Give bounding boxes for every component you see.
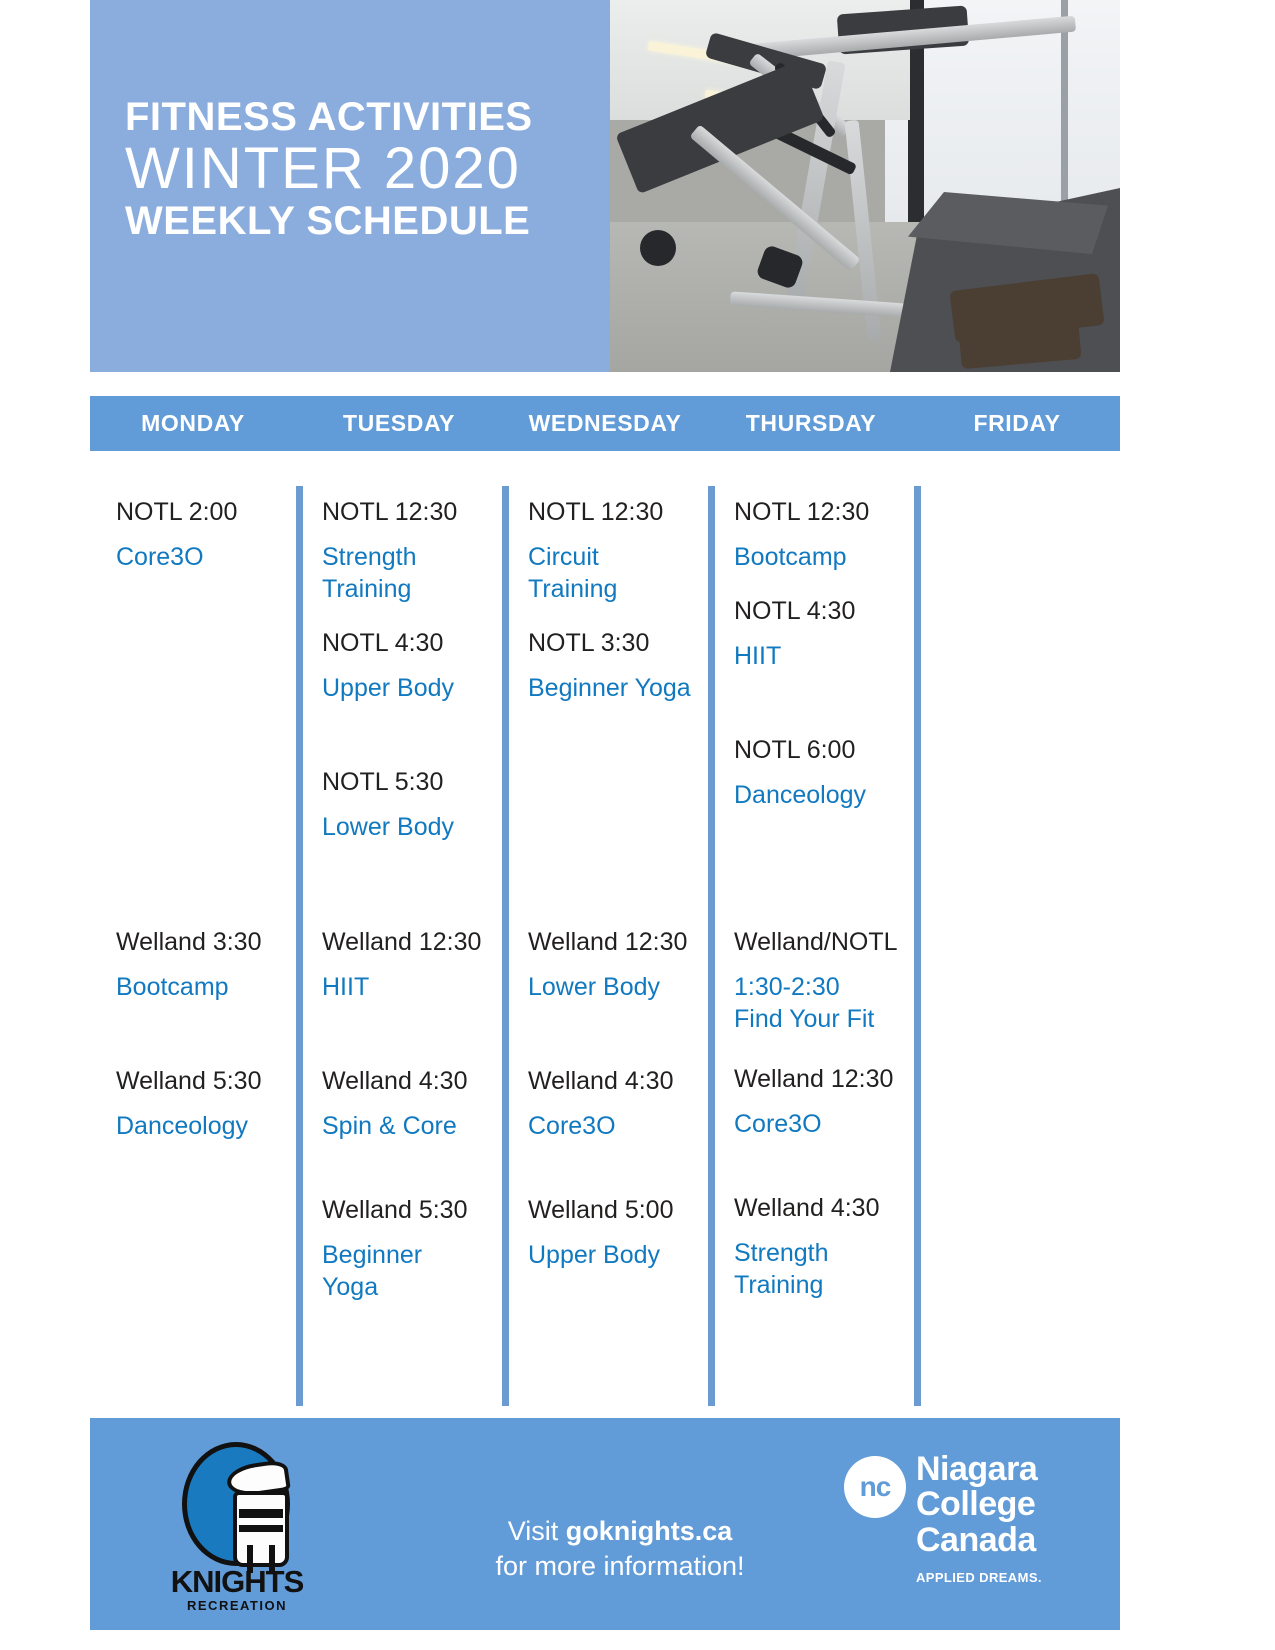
- visit-message: Visit goknights.ca for more information!: [420, 1514, 820, 1584]
- nc-badge-icon: nc: [844, 1456, 906, 1518]
- class-name: Spin & Core: [322, 1110, 494, 1142]
- class-location: Welland 12:30: [528, 926, 700, 958]
- class-slot: Welland 12:30 Core3O: [734, 1063, 906, 1140]
- class-location: Welland/NOTL: [734, 926, 906, 958]
- poster-title-group: FITNESS ACTIVITIES WINTER 2020 WEEKLY SC…: [125, 96, 605, 243]
- class-name: Lower Body: [322, 811, 494, 843]
- class-slot: Welland 4:30 Core3O: [528, 1065, 700, 1142]
- knight-helmet-icon: [182, 1442, 290, 1566]
- class-name: Upper Body: [528, 1239, 700, 1271]
- class-name: Lower Body: [528, 971, 700, 1003]
- class-location: NOTL 12:30: [528, 496, 700, 528]
- welland-block-thursday: Welland/NOTL 1:30-2:30 Find Your Fit Wel…: [734, 926, 906, 1307]
- title-line-weekly-schedule: WEEKLY SCHEDULE: [125, 199, 605, 243]
- class-slot: Welland 4:30 Spin & Core: [322, 1065, 494, 1142]
- class-location: Welland 3:30: [116, 926, 288, 958]
- niagara-college-logo: nc Niagara College Canada APPLIED DREAMS…: [844, 1452, 1074, 1602]
- class-location: Welland 12:30: [734, 1063, 906, 1095]
- knights-recreation-logo: KNIGHTS RECREATION: [162, 1436, 312, 1612]
- class-name: Circuit Training: [528, 541, 700, 605]
- knights-wordmark: KNIGHTS: [162, 1564, 312, 1600]
- class-slot: NOTL 12:30 Bootcamp: [734, 496, 906, 573]
- class-slot: Welland/NOTL 1:30-2:30 Find Your Fit: [734, 926, 906, 1035]
- class-location: NOTL 4:30: [734, 595, 906, 627]
- visit-line-2: for more information!: [420, 1549, 820, 1584]
- column-divider: [502, 486, 509, 1406]
- notl-block-monday: NOTL 2:00 Core3O: [116, 496, 288, 579]
- class-location: Welland 12:30: [322, 926, 494, 958]
- title-line-winter-2020: WINTER 2020: [125, 138, 605, 199]
- class-slot: Welland 5:30 Beginner Yoga: [322, 1194, 494, 1303]
- class-slot: Welland 5:00 Upper Body: [528, 1194, 700, 1271]
- visit-line-1: Visit goknights.ca: [420, 1514, 820, 1549]
- class-name: Beginner Yoga: [322, 1239, 494, 1303]
- welland-block-tuesday: Welland 12:30 HIIT Welland 4:30 Spin & C…: [322, 926, 494, 1309]
- class-slot: Welland 4:30 Strength Training: [734, 1192, 906, 1301]
- class-name: HIIT: [322, 971, 494, 1003]
- class-location: Welland 4:30: [528, 1065, 700, 1097]
- class-name: Bootcamp: [734, 541, 906, 573]
- class-name: Strength Training: [322, 541, 494, 605]
- class-slot: Welland 12:30 Lower Body: [528, 926, 700, 1003]
- class-slot: NOTL 2:00 Core3O: [116, 496, 288, 573]
- class-location: Welland 5:30: [116, 1065, 288, 1097]
- notl-block-wednesday: NOTL 12:30 Circuit Training NOTL 3:30 Be…: [528, 496, 700, 710]
- poster-header: FITNESS ACTIVITIES WINTER 2020 WEEKLY SC…: [90, 0, 1120, 372]
- class-location: Welland 4:30: [734, 1192, 906, 1224]
- class-location: NOTL 12:30: [322, 496, 494, 528]
- class-name: Danceology: [734, 779, 906, 811]
- class-location: NOTL 4:30: [322, 627, 494, 659]
- class-location: NOTL 12:30: [734, 496, 906, 528]
- day-header-tuesday: TUESDAY: [296, 396, 502, 451]
- class-name: 1:30-2:30 Find Your Fit: [734, 971, 906, 1035]
- day-header-monday: MONDAY: [90, 396, 296, 451]
- class-location: NOTL 6:00: [734, 734, 906, 766]
- niagara-college-wordmark: Niagara College Canada: [916, 1452, 1037, 1558]
- class-slot: NOTL 12:30 Strength Training: [322, 496, 494, 605]
- notl-block-thursday: NOTL 12:30 Bootcamp NOTL 4:30 HIIT NOTL …: [734, 496, 906, 817]
- class-name: Core3O: [116, 541, 288, 573]
- day-header-wednesday: WEDNESDAY: [502, 396, 708, 451]
- class-name: HIIT: [734, 640, 906, 672]
- class-name: Upper Body: [322, 672, 494, 704]
- schedule-grid: NOTL 2:00 Core3O Welland 3:30 Bootcamp W…: [90, 486, 1120, 1406]
- schedule-column-friday: [914, 486, 1120, 1406]
- class-name: Strength Training: [734, 1237, 906, 1301]
- schedule-column-wednesday: NOTL 12:30 Circuit Training NOTL 3:30 Be…: [502, 486, 708, 1406]
- class-name: Bootcamp: [116, 971, 288, 1003]
- visit-prefix: Visit: [508, 1516, 566, 1546]
- weight-plate: [640, 230, 676, 266]
- class-name: Danceology: [116, 1110, 288, 1142]
- class-slot: NOTL 6:00 Danceology: [734, 734, 906, 811]
- welland-block-wednesday: Welland 12:30 Lower Body Welland 4:30 Co…: [528, 926, 700, 1277]
- day-header-friday: FRIDAY: [914, 396, 1120, 451]
- class-slot: Welland 3:30 Bootcamp: [116, 926, 288, 1003]
- schedule-column-monday: NOTL 2:00 Core3O Welland 3:30 Bootcamp W…: [90, 486, 296, 1406]
- class-location: Welland 4:30: [322, 1065, 494, 1097]
- schedule-column-tuesday: NOTL 12:30 Strength Training NOTL 4:30 U…: [296, 486, 502, 1406]
- class-name: Core3O: [734, 1108, 906, 1140]
- class-location: NOTL 5:30: [322, 766, 494, 798]
- class-name: Beginner Yoga: [528, 672, 700, 704]
- class-name: Core3O: [528, 1110, 700, 1142]
- class-location: NOTL 2:00: [116, 496, 288, 528]
- day-header-thursday: THURSDAY: [708, 396, 914, 451]
- class-slot: NOTL 12:30 Circuit Training: [528, 496, 700, 605]
- class-location: NOTL 3:30: [528, 627, 700, 659]
- knights-subtitle: RECREATION: [162, 1598, 312, 1613]
- day-header-bar: MONDAY TUESDAY WEDNESDAY THURSDAY FRIDAY: [90, 396, 1120, 451]
- class-slot: Welland 5:30 Danceology: [116, 1065, 288, 1142]
- class-location: Welland 5:00: [528, 1194, 700, 1226]
- title-line-fitness-activities: FITNESS ACTIVITIES: [125, 96, 605, 138]
- welland-block-monday: Welland 3:30 Bootcamp Welland 5:30 Dance…: [116, 926, 288, 1148]
- visit-website: goknights.ca: [566, 1516, 733, 1546]
- class-slot: Welland 12:30 HIIT: [322, 926, 494, 1003]
- applied-dreams-tagline: APPLIED DREAMS.: [916, 1570, 1042, 1585]
- class-slot: NOTL 4:30 Upper Body: [322, 627, 494, 704]
- schedule-column-thursday: NOTL 12:30 Bootcamp NOTL 4:30 HIIT NOTL …: [708, 486, 914, 1406]
- column-divider: [914, 486, 921, 1406]
- helmet-visor: [239, 1509, 283, 1518]
- class-slot: NOTL 5:30 Lower Body: [322, 766, 494, 843]
- class-location: Welland 5:30: [322, 1194, 494, 1226]
- class-slot: NOTL 4:30 HIIT: [734, 595, 906, 672]
- class-slot: NOTL 3:30 Beginner Yoga: [528, 627, 700, 704]
- column-divider: [296, 486, 303, 1406]
- notl-block-tuesday: NOTL 12:30 Strength Training NOTL 4:30 U…: [322, 496, 494, 849]
- gym-equipment-photo: [610, 0, 1120, 372]
- poster-footer: KNIGHTS RECREATION Visit goknights.ca fo…: [90, 1418, 1120, 1630]
- helmet-visor: [239, 1525, 283, 1532]
- column-divider: [708, 486, 715, 1406]
